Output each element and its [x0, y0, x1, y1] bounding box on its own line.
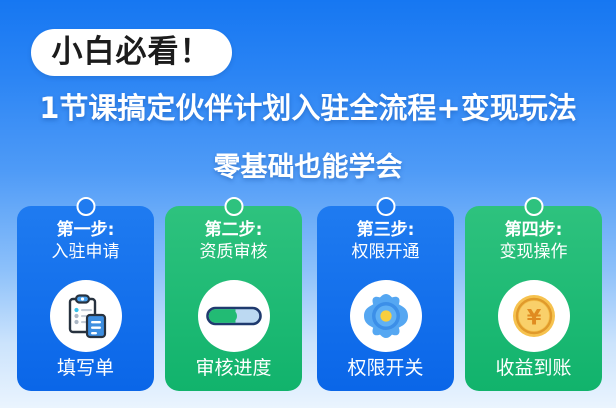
progress-bar-icon [198, 280, 270, 352]
step-footer-3: 权限开关 [317, 353, 454, 380]
step-footer-4: 收益到账 [465, 353, 602, 380]
svg-text:¥: ¥ [526, 306, 541, 330]
badge-label: 小白必看！ [52, 37, 212, 68]
step-title-2: 第二步: [165, 220, 302, 241]
page-subtitle: 零基础也能学会 [0, 145, 616, 184]
step-marker-dot-4 [524, 197, 543, 216]
step-card-4[interactable]: 第四步: 变现操作 ¥ 收益到账 [465, 206, 602, 391]
header-banner: 小白必看！ 1节课搞定伙伴计划入驻全流程+变现玩法 零基础也能学会 [0, 0, 616, 195]
step-subtitle-3: 权限开通 [317, 242, 454, 263]
page-title: 1节课搞定伙伴计划入驻全流程+变现玩法 [0, 92, 616, 125]
step-card-2[interactable]: 第二步: 资质审核 审核进度 [165, 206, 302, 391]
yuan-coin-icon: ¥ [498, 280, 570, 352]
step-card-list: 第一步: 入驻申请 填写单 第二步: 资质审核 [0, 196, 616, 408]
step-title-3: 第三步: [317, 220, 454, 241]
step-marker-dot-2 [224, 197, 243, 216]
step-marker-dot-1 [76, 197, 95, 216]
step-subtitle-1: 入驻申请 [17, 242, 154, 263]
step-title-4: 第四步: [465, 220, 602, 241]
step-marker-dot-3 [376, 197, 395, 216]
step-subtitle-4: 变现操作 [465, 242, 602, 263]
step-subtitle-2: 资质审核 [165, 242, 302, 263]
highlight-badge: 小白必看！ [31, 29, 232, 76]
step-card-1[interactable]: 第一步: 入驻申请 填写单 [17, 206, 154, 391]
step-card-3[interactable]: 第三步: 权限开通 权限开关 [317, 206, 454, 391]
clipboard-form-icon [50, 280, 122, 352]
step-footer-2: 审核进度 [165, 353, 302, 380]
gear-switch-icon [350, 280, 422, 352]
step-footer-1: 填写单 [17, 353, 154, 380]
step-title-1: 第一步: [17, 220, 154, 241]
